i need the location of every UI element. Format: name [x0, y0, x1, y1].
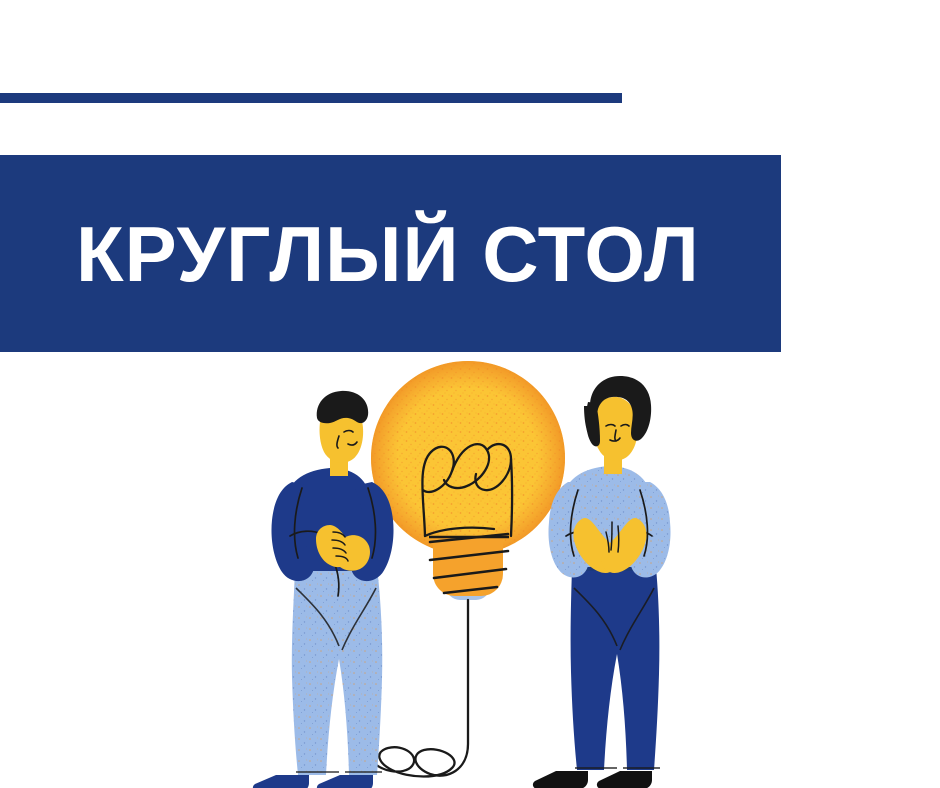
poster-canvas: КРУГЛЫЙ СТОЛ — [0, 0, 940, 788]
bulb-glass-edge-texture — [371, 361, 565, 555]
decorative-rule — [0, 93, 622, 103]
giant-lightbulb-icon — [370, 361, 565, 777]
illustration-svg — [0, 340, 940, 788]
title-banner: КРУГЛЫЙ СТОЛ — [0, 155, 781, 352]
woman-shoe-right — [597, 771, 652, 788]
illustration-two-people-with-lightbulb — [0, 340, 940, 788]
bulb-cord — [370, 600, 468, 777]
woman-head — [594, 397, 638, 461]
man-shoe-left — [253, 775, 309, 788]
man-shoe-right — [317, 775, 373, 788]
page-title: КРУГЛЫЙ СТОЛ — [76, 215, 700, 293]
woman-shoe-left — [533, 771, 588, 788]
